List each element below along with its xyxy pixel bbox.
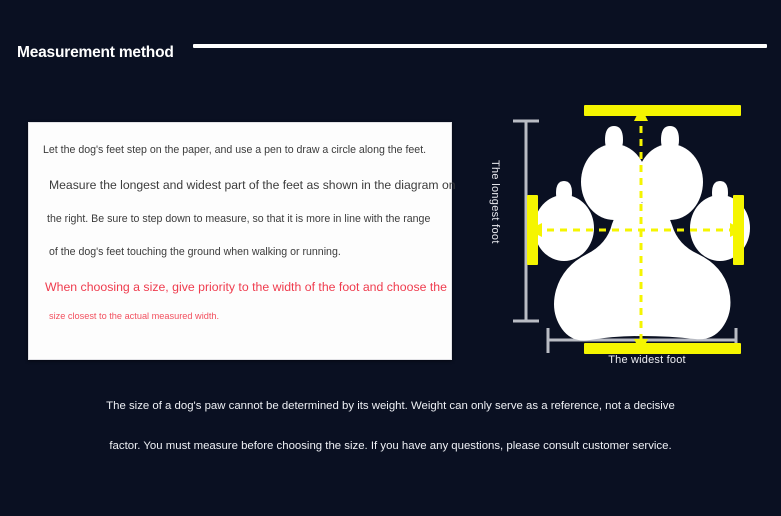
instruction-line-3: the right. Be sure to step down to measu… [43, 214, 435, 225]
footer-note: The size of a dog's paw cannot be determ… [0, 400, 781, 452]
longest-foot-label: The longest foot [489, 160, 501, 244]
instruction-warning-primary: When choosing a size, give priority to t… [43, 281, 435, 293]
widest-foot-label: The widest foot [562, 354, 732, 366]
page-title: Measurement method [17, 44, 174, 62]
paw-measurement-diagram [480, 85, 780, 375]
instruction-warning-secondary: size closest to the actual measured widt… [43, 312, 435, 321]
bottom-marker-bar [584, 343, 741, 354]
instruction-line-4: of the dog's feet touching the ground wh… [43, 247, 435, 258]
paw-diagram-svg [480, 85, 780, 375]
top-marker-bar [584, 105, 741, 116]
footer-line-1: The size of a dog's paw cannot be determ… [0, 400, 781, 412]
page-header: Measurement method [0, 0, 781, 80]
instruction-line-2: Measure the longest and widest part of t… [43, 179, 435, 191]
header-divider [193, 44, 767, 48]
instruction-card: Let the dog's feet step on the paper, an… [28, 122, 452, 360]
instruction-line-1: Let the dog's feet step on the paper, an… [43, 145, 435, 156]
footer-line-2: factor. You must measure before choosing… [0, 440, 781, 452]
